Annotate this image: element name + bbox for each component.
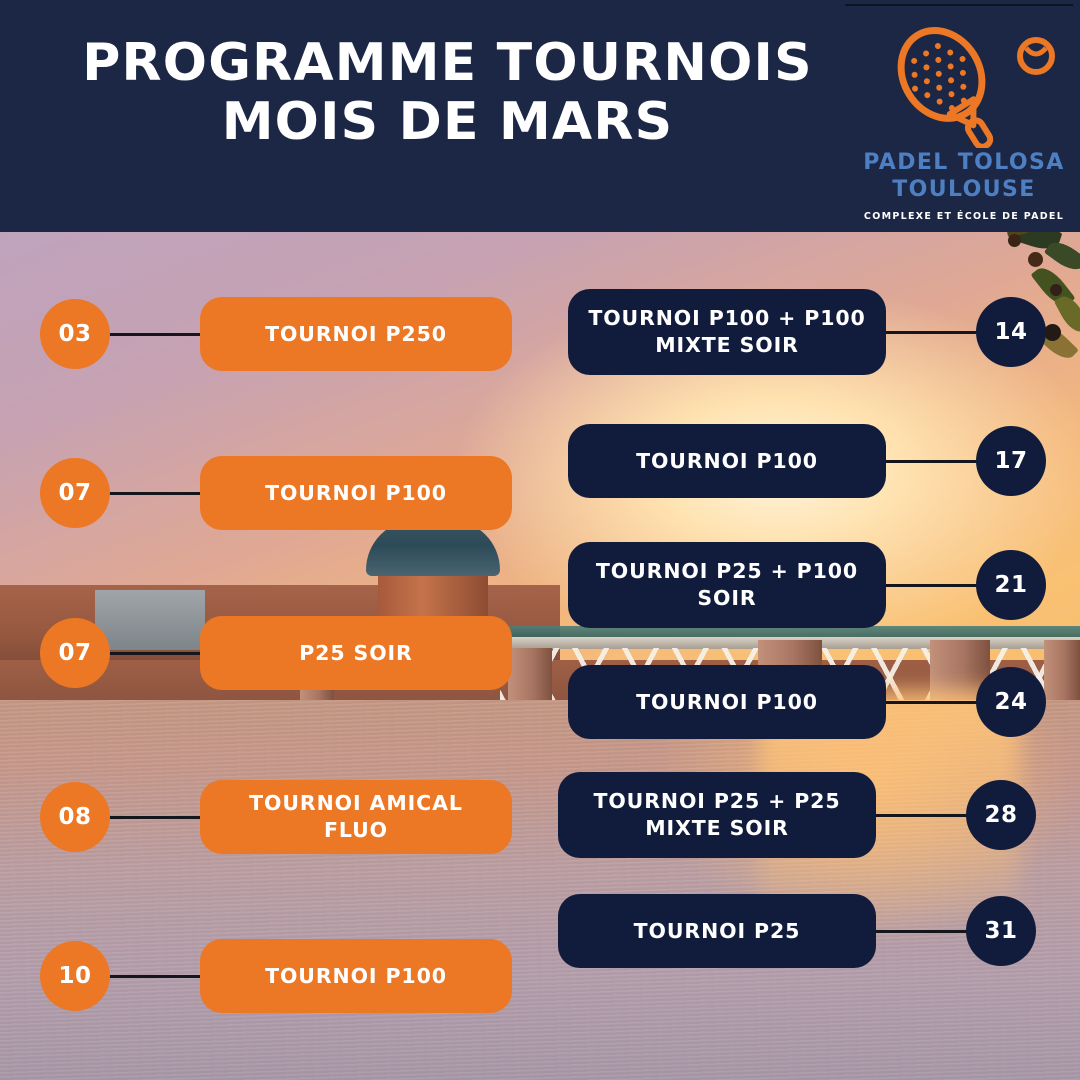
- title-line-1: PROGRAMME TOURNOIS: [82, 33, 813, 93]
- connector-line: [102, 975, 212, 978]
- day-badge: 08: [40, 782, 110, 852]
- day-badge: 07: [40, 458, 110, 528]
- schedule-row[interactable]: TOURNOI P25 31: [558, 894, 1036, 968]
- schedule-row[interactable]: TOURNOI P25 + P100 SOIR 21: [568, 542, 1046, 628]
- schedule-row[interactable]: 03 TOURNOI P250: [40, 297, 512, 371]
- event-pill[interactable]: TOURNOI P100: [200, 456, 512, 530]
- connector-line: [864, 814, 974, 817]
- schedule-row[interactable]: TOURNOI P100 24: [568, 665, 1046, 739]
- event-pill[interactable]: TOURNOI P25 + P25 MIXTE SOIR: [558, 772, 876, 858]
- logo-name-line-1: PADEL TOLOSA: [863, 150, 1064, 175]
- logo-name: PADEL TOLOSA TOULOUSE: [858, 150, 1070, 204]
- connector-line: [874, 584, 984, 587]
- logo-name-line-2: TOULOUSE: [892, 177, 1035, 202]
- event-pill[interactable]: TOURNOI P100: [200, 939, 512, 1013]
- schedule-row[interactable]: 08 TOURNOI AMICAL FLUO: [40, 780, 512, 854]
- poster: PROGRAMME TOURNOIS MOIS DE MARS: [0, 0, 1080, 1080]
- day-badge: 17: [976, 426, 1046, 496]
- event-pill[interactable]: TOURNOI P25 + P100 SOIR: [568, 542, 886, 628]
- day-badge: 03: [40, 299, 110, 369]
- schedule-row[interactable]: 07 P25 SOIR: [40, 616, 512, 690]
- schedule-row[interactable]: TOURNOI P25 + P25 MIXTE SOIR 28: [558, 772, 1036, 858]
- event-pill[interactable]: P25 SOIR: [200, 616, 512, 690]
- connector-line: [102, 816, 212, 819]
- connector-line: [102, 333, 212, 336]
- padel-racket-icon: [858, 20, 1070, 148]
- schedule-row[interactable]: 07 TOURNOI P100: [40, 456, 512, 530]
- schedule-row[interactable]: TOURNOI P100 17: [568, 424, 1046, 498]
- event-pill[interactable]: TOURNOI P100: [568, 424, 886, 498]
- day-badge: 24: [976, 667, 1046, 737]
- connector-line: [874, 701, 984, 704]
- event-pill[interactable]: TOURNOI P100: [568, 665, 886, 739]
- schedule-row[interactable]: TOURNOI P100 + P100 MIXTE SOIR 14: [568, 289, 1046, 375]
- day-badge: 28: [966, 780, 1036, 850]
- logo-tagline: COMPLEXE ET ÉCOLE DE PADEL: [858, 211, 1070, 222]
- connector-line: [102, 492, 212, 495]
- brand-logo: PADEL TOLOSA TOULOUSE COMPLEXE ET ÉCOLE …: [858, 20, 1070, 225]
- connector-line: [102, 652, 212, 655]
- connector-line: [874, 460, 984, 463]
- event-pill[interactable]: TOURNOI P25: [558, 894, 876, 968]
- day-badge: 31: [966, 896, 1036, 966]
- connector-line: [874, 331, 984, 334]
- day-badge: 21: [976, 550, 1046, 620]
- header-band: PROGRAMME TOURNOIS MOIS DE MARS: [0, 0, 1080, 232]
- top-divider-line: [845, 4, 1073, 6]
- day-badge: 07: [40, 618, 110, 688]
- event-pill[interactable]: TOURNOI AMICAL FLUO: [200, 780, 512, 854]
- schedule-row[interactable]: 10 TOURNOI P100: [40, 939, 512, 1013]
- day-badge: 10: [40, 941, 110, 1011]
- day-badge: 14: [976, 297, 1046, 367]
- event-pill[interactable]: TOURNOI P250: [200, 297, 512, 371]
- connector-line: [864, 930, 974, 933]
- title-line-2: MOIS DE MARS: [40, 93, 855, 152]
- event-pill[interactable]: TOURNOI P100 + P100 MIXTE SOIR: [568, 289, 886, 375]
- page-title: PROGRAMME TOURNOIS MOIS DE MARS: [40, 34, 855, 152]
